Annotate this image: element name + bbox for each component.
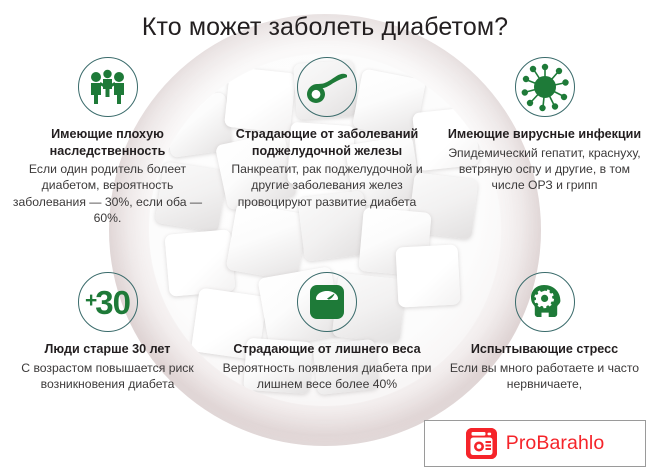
risk-item-body: Вероятность появления диабета при лишнем…	[218, 360, 436, 392]
risk-item-virus-infection: Имеющие вирусные инфекции Эпидемический …	[443, 57, 646, 193]
risk-item-heredity: Имеющие плохую наследственность Если оди…	[6, 57, 209, 226]
virus-icon	[515, 57, 575, 117]
risk-item-body: Если один родитель болеет диабетом, веро…	[6, 161, 209, 226]
age-number: 30	[95, 284, 130, 321]
risk-item-heading: Испытывающие стресс	[443, 341, 646, 358]
watermark-badge: ProBarahlo	[424, 420, 646, 467]
family-heredity-icon	[78, 57, 138, 117]
age-plus-30-icon: +30	[78, 272, 138, 332]
risk-item-body: Эпидемический гепатит, краснуху, ветряну…	[443, 145, 646, 194]
watermark-label: ProBarahlo	[506, 432, 605, 455]
head-gear-stress-icon	[515, 272, 575, 332]
risk-item-body: Если вы много работаете и часто нервнича…	[443, 360, 646, 392]
risk-factors-grid: Имеющие плохую наследственность Если оди…	[0, 0, 650, 472]
risk-item-heading: Имеющие вирусные инфекции	[443, 126, 646, 143]
risk-item-heading: Страдающие от лишнего веса	[218, 341, 436, 358]
risk-item-stress: Испытывающие стресс Если вы много работа…	[443, 272, 646, 392]
risk-item-body: Панкреатит, рак поджелудочной и другие з…	[218, 161, 436, 210]
infographic-root: Кто может заболеть диабетом? Имеющие пло…	[0, 0, 650, 472]
risk-item-heading: Страдающие от заболеваний поджелудочной …	[218, 126, 436, 159]
pancreas-icon	[297, 57, 357, 117]
risk-item-overweight: Страдающие от лишнего веса Вероятность п…	[218, 272, 436, 392]
page-title: Кто может заболеть диабетом?	[0, 13, 650, 42]
age-badge: +30	[85, 286, 130, 319]
risk-item-heading: Имеющие плохую наследственность	[6, 126, 209, 159]
risk-item-heading: Люди старше 30 лет	[6, 341, 209, 358]
weight-scale-icon	[297, 272, 357, 332]
camera-icon	[466, 428, 497, 459]
risk-item-pancreas: Страдающие от заболеваний поджелудочной …	[218, 57, 436, 210]
risk-item-body: С возрастом повышается риск возникновени…	[6, 360, 209, 392]
risk-item-age-over-30: +30 Люди старше 30 лет С возрастом повыш…	[6, 272, 209, 392]
